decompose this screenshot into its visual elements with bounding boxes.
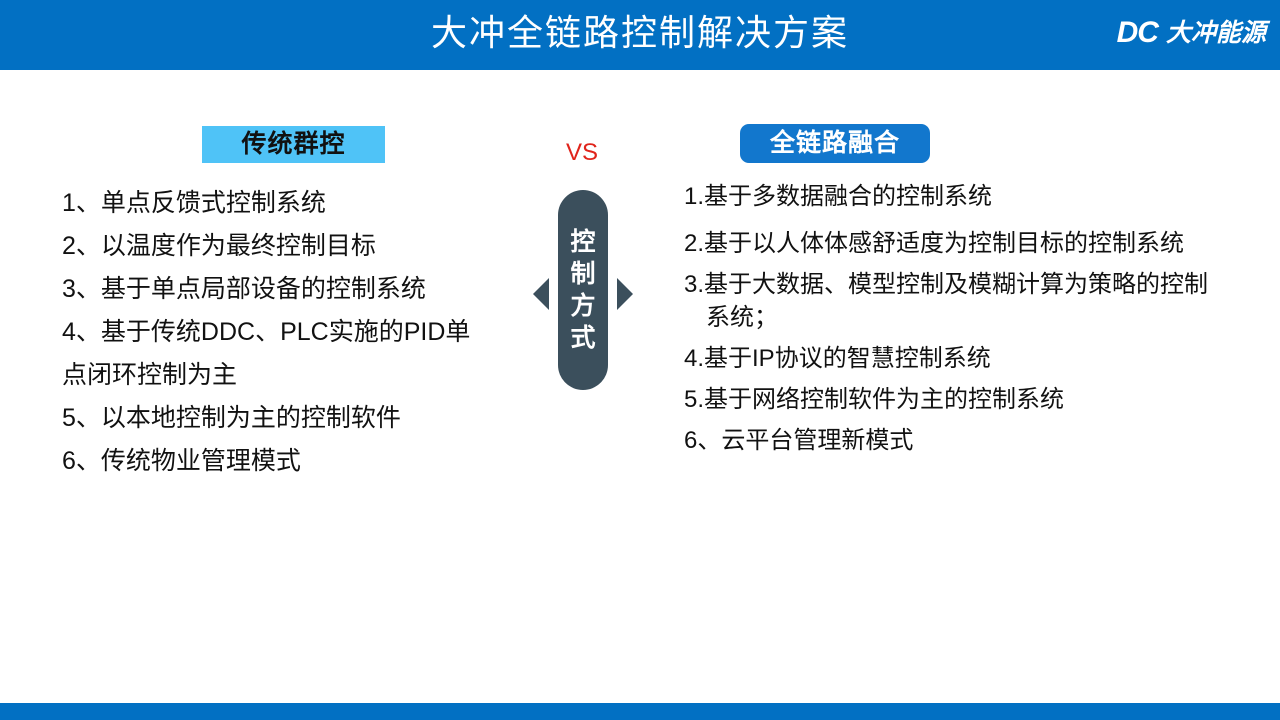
vs-label: VS [552, 139, 612, 167]
list-item-text: 基于单点局部设备的控制系统 [101, 275, 426, 303]
list-item-number: 5. [684, 386, 704, 413]
left-list: 1、单点反馈式控制系统 2、以温度作为最终控制目标 3、基于单点局部设备的控制系… [62, 182, 532, 483]
list-item-number: 5、 [62, 404, 101, 432]
list-item: 5.基于网络控制软件为主的控制系统 [684, 383, 1280, 416]
list-item: 3.基于大数据、模型控制及模糊计算为策略的控制系统； [684, 268, 1280, 334]
list-item-number: 1. [684, 183, 704, 210]
list-item-text: 基于IP协议的智慧控制系统 [704, 345, 991, 372]
list-item-text: 基于大数据、模型控制及模糊计算为策略的控制 [704, 271, 1208, 298]
list-item-text: 以本地控制为主的控制软件 [101, 404, 401, 432]
list-item-number: 3. [684, 271, 704, 298]
list-item-text: 以温度作为最终控制目标 [101, 232, 376, 260]
capsule-char: 控 [570, 227, 595, 257]
list-item-number: 6、 [684, 427, 721, 454]
list-item: 5、以本地控制为主的控制软件 [62, 397, 532, 440]
right-list: 1.基于多数据融合的控制系统 2.基于以人体体感舒适度为控制目标的控制系统 3.… [684, 180, 1280, 465]
brand-mark-text: DC [1117, 16, 1158, 50]
footer-bar [0, 703, 1280, 720]
list-item: 1、单点反馈式控制系统 [62, 182, 532, 225]
list-item: 4.基于IP协议的智慧控制系统 [684, 342, 1280, 375]
capsule-char: 制 [570, 259, 595, 289]
list-item-text: 基于以人体体感舒适度为控制目标的控制系统 [704, 230, 1184, 257]
list-item-number: 1、 [62, 189, 101, 217]
list-item: 4、基于传统DDC、PLC实施的PID单 [62, 311, 532, 354]
control-method-capsule: 控 制 方 式 [558, 190, 608, 390]
list-item-text: 基于多数据融合的控制系统 [704, 183, 992, 210]
list-item-text: 云平台管理新模式 [721, 427, 913, 454]
list-item-number: 3、 [62, 275, 101, 303]
list-item-number: 4. [684, 345, 704, 372]
list-item: 2.基于以人体体感舒适度为控制目标的控制系统 [684, 227, 1280, 260]
list-item: 1.基于多数据融合的控制系统 [684, 180, 1280, 213]
capsule-char: 式 [570, 323, 595, 353]
list-item-number: 2. [684, 230, 704, 257]
arrow-right-icon [617, 278, 633, 310]
page-title: 大冲全链路控制解决方案 [0, 8, 1280, 58]
list-item: 6、传统物业管理模式 [62, 440, 532, 483]
brand-name-text: 大冲能源 [1166, 16, 1266, 50]
list-item: 3、基于单点局部设备的控制系统 [62, 268, 532, 311]
list-item-text: 传统物业管理模式 [101, 447, 301, 475]
list-item-number: 6、 [62, 447, 101, 475]
list-item-number: 4、 [62, 318, 101, 346]
brand-logo: DC 大冲能源 [1117, 16, 1266, 50]
list-item-continuation: 点闭环控制为主 [62, 354, 532, 397]
list-item-number: 2、 [62, 232, 101, 260]
list-item-continuation: 系统； [684, 301, 1280, 334]
list-item-text: 基于网络控制软件为主的控制系统 [704, 386, 1064, 413]
slide-canvas: 大冲全链路控制解决方案 DC 大冲能源 传统群控 1、单点反馈式控制系统 2、以… [0, 0, 1280, 720]
badge-full-chain-fusion: 全链路融合 [740, 124, 930, 163]
badge-traditional-group-control: 传统群控 [202, 126, 385, 163]
list-item-text: 基于传统DDC、PLC实施的PID单 [101, 318, 470, 346]
list-item-text: 单点反馈式控制系统 [101, 189, 326, 217]
arrow-left-icon [533, 278, 549, 310]
list-item: 6、云平台管理新模式 [684, 424, 1280, 457]
capsule-char: 方 [570, 291, 595, 321]
list-item: 2、以温度作为最终控制目标 [62, 225, 532, 268]
